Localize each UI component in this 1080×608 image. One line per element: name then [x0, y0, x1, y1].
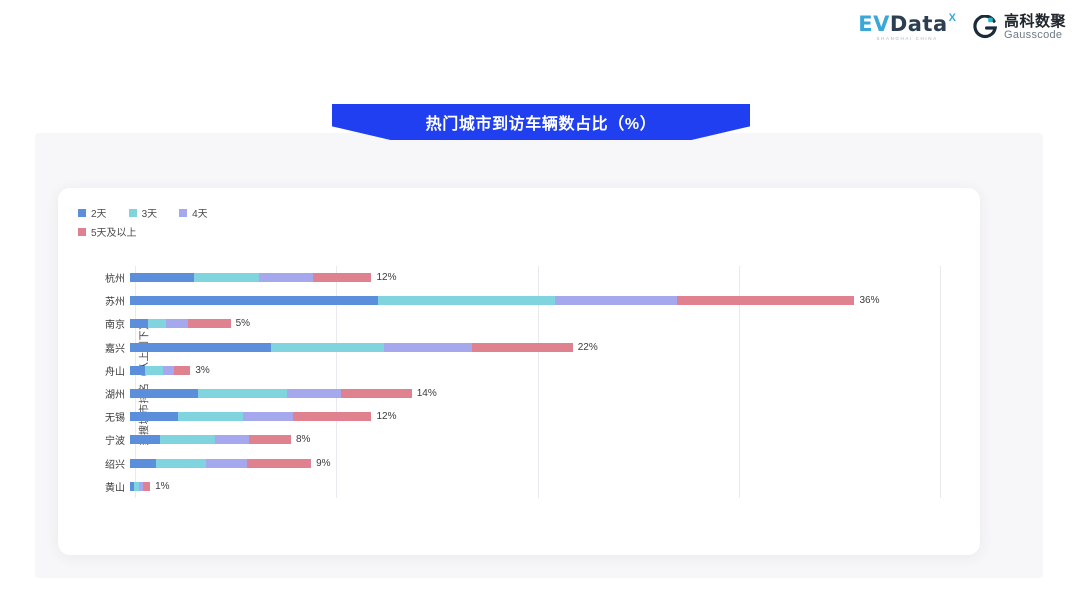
bar-row-label: 舟山	[58, 363, 130, 378]
legend-swatch-icon	[78, 228, 86, 236]
bar-track: 22%	[130, 336, 980, 359]
bar-segment[interactable]	[130, 389, 198, 398]
bar-row[interactable]: 无锡12%	[58, 405, 980, 428]
bar-value-label: 12%	[376, 411, 396, 422]
bar-segment[interactable]	[148, 319, 166, 328]
bar-segment[interactable]	[384, 343, 473, 352]
bar-segment[interactable]	[163, 366, 174, 375]
bar-row-label: 南京	[58, 316, 130, 331]
bar-segment[interactable]	[130, 412, 178, 421]
bar-segment[interactable]	[130, 319, 148, 328]
bar-row-label: 无锡	[58, 409, 130, 424]
bar-track: 36%	[130, 289, 980, 312]
bar-track: 12%	[130, 405, 980, 428]
stacked-bar[interactable]	[130, 435, 291, 444]
bar-row-label: 宁波	[58, 432, 130, 447]
bar-segment[interactable]	[247, 459, 311, 468]
bar-segment[interactable]	[178, 412, 242, 421]
bar-segment[interactable]	[130, 435, 160, 444]
bar-value-label: 1%	[155, 481, 169, 492]
bar-row-label: 杭州	[58, 270, 130, 285]
logo-group: EVData X SHANGHAI CHINA 高科数聚 Gausscode	[858, 14, 1066, 42]
chart-title-banner: 热门城市到访车辆数占比（%）	[332, 104, 750, 140]
legend-label: 3天	[142, 205, 158, 220]
bar-row[interactable]: 舟山3%	[58, 359, 980, 382]
stacked-bar[interactable]	[130, 482, 150, 491]
legend-item[interactable]: 4天	[179, 205, 208, 220]
gausscode-text: 高科数聚 Gausscode	[1004, 14, 1066, 41]
bar-segment[interactable]	[143, 482, 150, 491]
bar-value-label: 3%	[195, 365, 209, 376]
bar-segment[interactable]	[156, 459, 206, 468]
chart-legend: 2天3天4天5天及以上	[78, 205, 418, 239]
bar-track: 12%	[130, 266, 980, 289]
legend-swatch-icon	[78, 209, 86, 217]
bar-segment[interactable]	[160, 435, 214, 444]
stacked-bar[interactable]	[130, 319, 231, 328]
bar-segment[interactable]	[555, 296, 678, 305]
bar-value-label: 9%	[316, 458, 330, 469]
evdata-prefix: EV	[858, 12, 890, 36]
bar-row-label: 湖州	[58, 386, 130, 401]
gausscode-logo-icon	[972, 15, 998, 41]
legend-item[interactable]: 3天	[129, 205, 158, 220]
bar-row[interactable]: 南京5%	[58, 312, 980, 335]
bar-row[interactable]: 嘉兴22%	[58, 336, 980, 359]
bar-segment[interactable]	[249, 435, 291, 444]
evdata-logo: EVData X SHANGHAI CHINA	[858, 14, 956, 42]
legend-label: 4天	[192, 205, 208, 220]
gausscode-logo: 高科数聚 Gausscode	[972, 14, 1066, 41]
bar-segment[interactable]	[313, 273, 371, 282]
stacked-bar[interactable]	[130, 296, 854, 305]
stacked-bar[interactable]	[130, 412, 371, 421]
bar-track: 8%	[130, 428, 980, 451]
bar-segment[interactable]	[130, 273, 194, 282]
bar-segment[interactable]	[293, 412, 371, 421]
bar-track: 14%	[130, 382, 980, 405]
bar-segment[interactable]	[271, 343, 384, 352]
bar-segment[interactable]	[287, 389, 341, 398]
bar-value-label: 12%	[376, 272, 396, 283]
bar-segment[interactable]	[130, 296, 378, 305]
bar-row-label: 黄山	[58, 479, 130, 494]
bar-segment[interactable]	[188, 319, 230, 328]
bar-segment[interactable]	[130, 366, 145, 375]
plot-area: 热搜城市排名（从上到下） 杭州12%苏州36%南京5%嘉兴22%舟山3%湖州14…	[58, 266, 980, 526]
bar-value-label: 22%	[578, 342, 598, 353]
bar-value-label: 5%	[236, 318, 250, 329]
stacked-bar[interactable]	[130, 389, 412, 398]
bar-segment[interactable]	[194, 273, 258, 282]
chart-bar-rows: 杭州12%苏州36%南京5%嘉兴22%舟山3%湖州14%无锡12%宁波8%绍兴9…	[58, 266, 980, 498]
bar-row[interactable]: 湖州14%	[58, 382, 980, 405]
bar-segment[interactable]	[206, 459, 246, 468]
bar-row-label: 绍兴	[58, 456, 130, 471]
bar-segment[interactable]	[174, 366, 190, 375]
bar-segment[interactable]	[243, 412, 293, 421]
legend-label: 5天及以上	[91, 224, 137, 239]
bar-track: 1%	[130, 475, 980, 498]
evdata-suffix: Data	[890, 12, 948, 36]
gausscode-name-en: Gausscode	[1004, 30, 1066, 42]
bar-row[interactable]: 苏州36%	[58, 289, 980, 312]
legend-item[interactable]: 2天	[78, 205, 107, 220]
gausscode-name-cn: 高科数聚	[1004, 14, 1066, 30]
bar-segment[interactable]	[215, 435, 249, 444]
bar-row[interactable]: 宁波8%	[58, 428, 980, 451]
bar-segment[interactable]	[259, 273, 313, 282]
bar-row-label: 苏州	[58, 293, 130, 308]
bar-segment[interactable]	[341, 389, 411, 398]
bar-track: 5%	[130, 312, 980, 335]
bar-segment[interactable]	[145, 366, 163, 375]
evdata-text: EVData	[858, 14, 947, 35]
evdata-tagline: SHANGHAI CHINA	[877, 37, 938, 42]
stacked-bar[interactable]	[130, 459, 311, 468]
legend-item[interactable]: 5天及以上	[78, 224, 418, 239]
bar-row[interactable]: 黄山1%	[58, 475, 980, 498]
bar-value-label: 36%	[859, 295, 879, 306]
legend-swatch-icon	[129, 209, 137, 217]
bar-track: 9%	[130, 452, 980, 475]
bar-segment[interactable]	[198, 389, 287, 398]
bar-segment[interactable]	[472, 343, 573, 352]
legend-label: 2天	[91, 205, 107, 220]
bar-row[interactable]: 杭州12%	[58, 266, 980, 289]
bar-segment[interactable]	[130, 459, 156, 468]
bar-value-label: 8%	[296, 434, 310, 445]
bar-value-label: 14%	[417, 388, 437, 399]
legend-swatch-icon	[179, 209, 187, 217]
bar-row[interactable]: 绍兴9%	[58, 452, 980, 475]
bar-segment[interactable]	[677, 296, 854, 305]
stacked-bar[interactable]	[130, 366, 190, 375]
evdata-superscript-x: X	[949, 13, 956, 24]
stacked-bar[interactable]	[130, 343, 573, 352]
stacked-bar[interactable]	[130, 273, 371, 282]
bar-segment[interactable]	[130, 343, 271, 352]
chart-card: 2天3天4天5天及以上 热搜城市排名（从上到下） 杭州12%苏州36%南京5%嘉…	[58, 188, 980, 555]
bar-segment[interactable]	[378, 296, 555, 305]
top-logo-bar: EVData X SHANGHAI CHINA 高科数聚 Gausscode	[0, 0, 1080, 56]
bar-segment[interactable]	[166, 319, 188, 328]
evdata-wordmark: EVData X	[858, 14, 956, 35]
bar-track: 3%	[130, 359, 980, 382]
bar-row-label: 嘉兴	[58, 340, 130, 355]
